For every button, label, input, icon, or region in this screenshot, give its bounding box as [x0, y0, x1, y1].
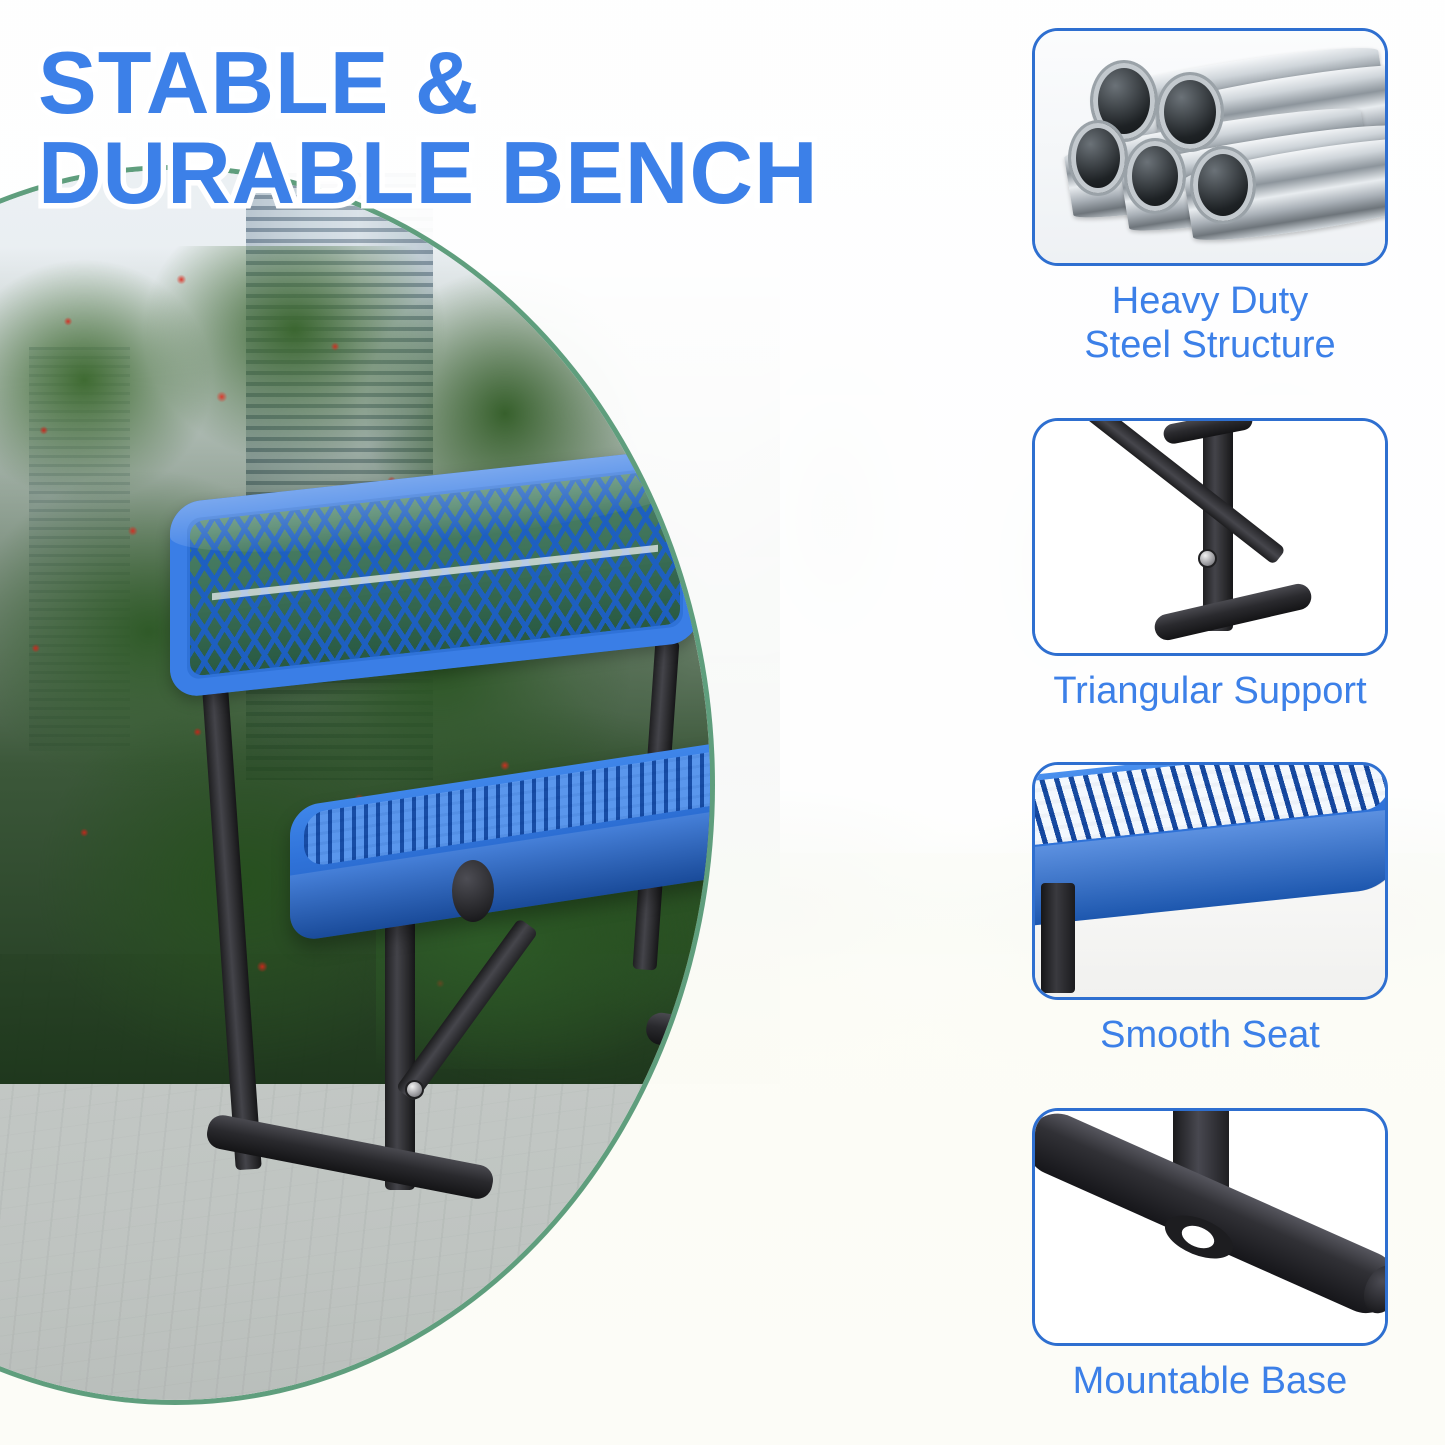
base-mount-hole-icon [1035, 1111, 1385, 1343]
headline-line-2: DURABLE BENCH [38, 128, 918, 218]
bench-backrest [170, 446, 700, 699]
page-title: STABLE & DURABLE BENCH [38, 38, 918, 218]
feature-list: Heavy Duty Steel Structure Triangular Su… [975, 0, 1445, 1445]
product-infographic: STABLE & DURABLE BENCH [0, 0, 1445, 1445]
feature-caption: Mountable Base [975, 1360, 1445, 1404]
smooth-seat-thumbnail [1032, 762, 1388, 1000]
park-bench-product [0, 170, 710, 1400]
feature-smooth-seat: Smooth Seat [975, 762, 1445, 1058]
feature-mountable-base: Mountable Base [975, 1108, 1445, 1404]
caption-line-1: Triangular Support [975, 670, 1445, 714]
caption-line-1: Heavy Duty [975, 280, 1445, 324]
caption-line-1: Mountable Base [975, 1360, 1445, 1404]
feature-triangular-support: Triangular Support [975, 418, 1445, 714]
headline-line-1: STABLE & [38, 33, 479, 132]
feature-caption: Smooth Seat [975, 1014, 1445, 1058]
triangular-support-thumbnail [1032, 418, 1388, 656]
mountable-base-thumbnail [1032, 1108, 1388, 1346]
caption-line-1: Smooth Seat [975, 1014, 1445, 1058]
mesh-seat-corner-icon [1035, 765, 1385, 997]
caption-line-2: Steel Structure [975, 324, 1445, 368]
steel-tubes-thumbnail [1032, 28, 1388, 266]
feature-heavy-duty-steel-structure: Heavy Duty Steel Structure [975, 28, 1445, 367]
steel-tubes-bundle-icon [1035, 31, 1385, 263]
feature-caption: Heavy Duty Steel Structure [975, 280, 1445, 367]
bolt-icon [405, 1080, 424, 1099]
leg-brace-icon [1035, 421, 1385, 653]
hero-photo-arc [0, 170, 710, 1400]
bolt-icon [1198, 549, 1217, 568]
feature-caption: Triangular Support [975, 670, 1445, 714]
